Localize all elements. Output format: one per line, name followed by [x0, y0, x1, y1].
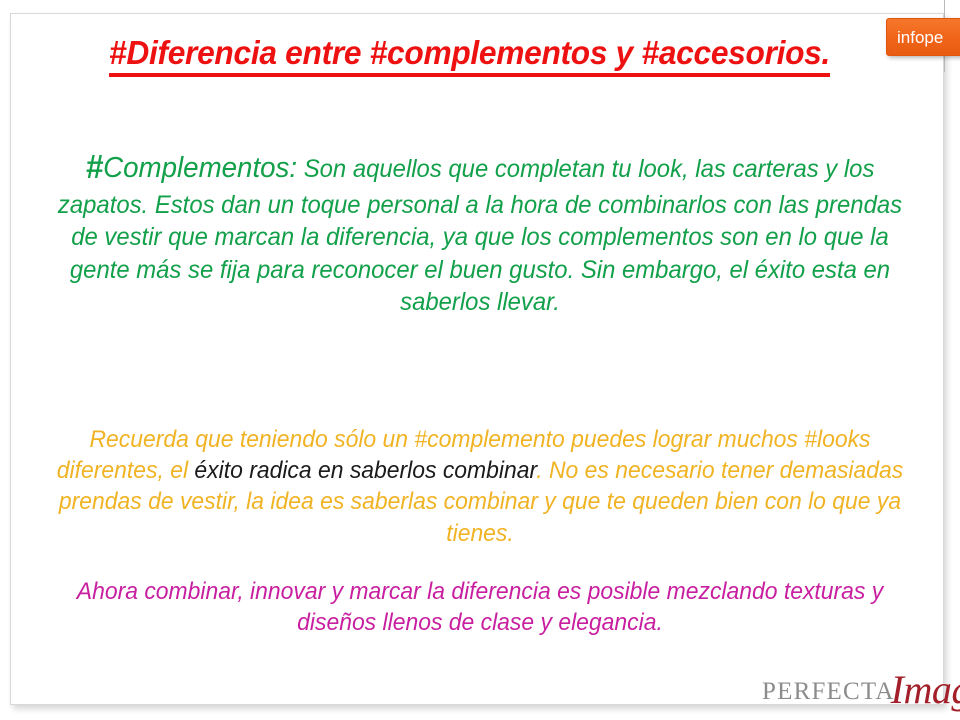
hash-marker-complementos: #	[86, 148, 104, 185]
title-block: #Diferencia entre #complementos y #acces…	[40, 36, 900, 77]
paragraph-ahora: Ahora combinar, innovar y marcar la dife…	[46, 576, 913, 638]
paragraph-recuerda: Recuerda que teniendo sólo un #complemen…	[46, 424, 913, 549]
slide-root: #Diferencia entre #complementos y #acces…	[0, 0, 960, 720]
recuerda-emphasis: éxito radica en saberlos combinar	[194, 457, 536, 484]
logo-perfecta-text: PERFECTA	[762, 678, 895, 705]
logo-imagen-script: Imagen	[891, 667, 960, 712]
brand-logo: PERFECTAImagen	[762, 666, 960, 708]
page-title: #Diferencia entre #complementos y #acces…	[109, 36, 830, 77]
heading-complementos: Complementos:	[103, 152, 297, 184]
info-badge[interactable]: infope	[886, 18, 960, 56]
paragraph-complementos: #Complementos: Son aquellos que completa…	[46, 146, 913, 319]
